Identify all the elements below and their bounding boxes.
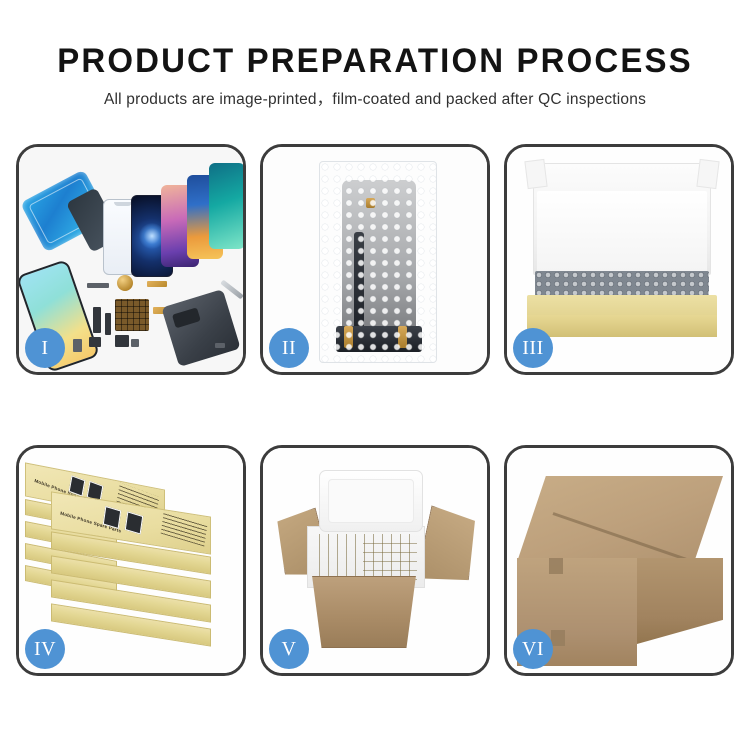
step-panel-5[interactable]: V bbox=[260, 445, 490, 676]
step-panel-1[interactable]: I bbox=[16, 144, 246, 375]
bubble-wrap-pouch-icon bbox=[319, 161, 437, 363]
step-badge-1: I bbox=[25, 328, 65, 368]
page-title: PRODUCT PREPARATION PROCESS bbox=[11, 44, 739, 78]
step-panel-3[interactable]: III bbox=[504, 144, 734, 375]
carton-top-face-icon bbox=[517, 476, 723, 562]
step-badge-3: III bbox=[513, 328, 553, 368]
sim-tray-icon bbox=[73, 339, 82, 352]
step-badge-5: V bbox=[269, 629, 309, 669]
box-spec-text-front bbox=[161, 512, 208, 546]
carton-flap-right-icon bbox=[416, 505, 483, 590]
header: PRODUCT PREPARATION PROCESS All products… bbox=[0, 0, 750, 108]
step-badge-6: VI bbox=[513, 629, 553, 669]
packed-boxes-icon-2 bbox=[363, 536, 417, 580]
step-badge-2: II bbox=[269, 328, 309, 368]
page-subtitle: All products are image-printed，film-coat… bbox=[0, 92, 750, 108]
yellow-box-front-icon bbox=[527, 315, 717, 337]
phone-screen-teal-icon bbox=[209, 163, 243, 249]
product-preparation-page: PRODUCT PREPARATION PROCESS All products… bbox=[0, 0, 750, 750]
flex-cable-icon-1 bbox=[93, 307, 101, 333]
screw-icon-2 bbox=[215, 343, 225, 348]
gold-connector-icon-1 bbox=[147, 281, 167, 287]
foam-sheet-icon bbox=[537, 191, 707, 273]
foam-lid-icon bbox=[319, 470, 423, 532]
screw-icon-1 bbox=[131, 339, 139, 347]
carton-tape-icon-2 bbox=[551, 630, 565, 646]
camera-module-icon bbox=[89, 337, 101, 347]
step-panel-4[interactable]: Mobile Phone Spare Parts Mobile Phone Sp… bbox=[16, 445, 246, 676]
carton-body-icon bbox=[305, 576, 423, 648]
logic-board-icon bbox=[115, 299, 149, 331]
speaker-module-icon bbox=[117, 275, 133, 291]
phone-frame-icon bbox=[161, 289, 240, 367]
battery-connector-icon bbox=[115, 335, 129, 347]
bubble-texture-icon bbox=[320, 162, 436, 362]
carton-side-face-icon bbox=[637, 558, 723, 644]
flex-cable-icon-2 bbox=[105, 313, 111, 335]
carton-tape-icon-1 bbox=[549, 558, 563, 574]
process-steps-grid: I II bbox=[16, 144, 734, 676]
small-part-icon-1 bbox=[87, 283, 109, 288]
step-panel-2[interactable]: II bbox=[260, 144, 490, 375]
step-badge-4: IV bbox=[25, 629, 65, 669]
box-screen-image-front-2 bbox=[125, 511, 143, 534]
step-panel-6[interactable]: VI bbox=[504, 445, 734, 676]
